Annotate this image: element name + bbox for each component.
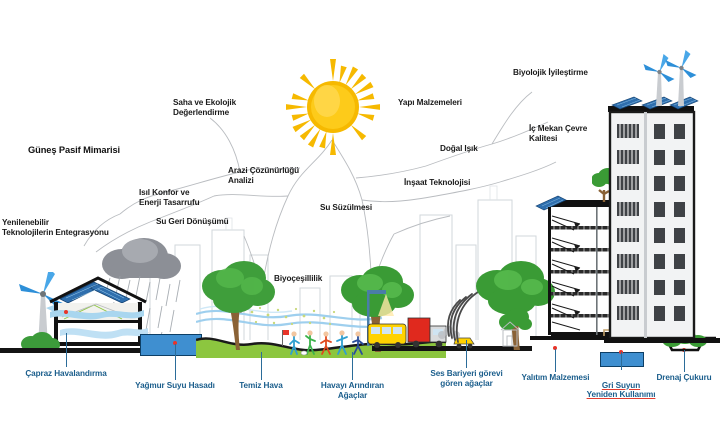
label-arazi-cozunurlugu-analizi: Arazi Çözünürlüğü Analizi xyxy=(228,166,336,185)
infographic-canvas: Güneş Pasif Mimarisi Yenilenebilir Tekno… xyxy=(0,0,720,427)
sun-icon xyxy=(286,58,380,156)
label-capraz-havalandirma: Çapraz Havalandırma xyxy=(1,369,131,379)
small-house-sketch xyxy=(498,316,532,350)
label-temiz-hava: Temiz Hava xyxy=(216,381,306,391)
leader-havayi-arindiran-agaclar xyxy=(352,352,353,380)
label-biyolojik-iyilestirme: Biyolojik İyileştirme xyxy=(513,68,631,78)
rooftop-wind-turbines xyxy=(640,50,710,110)
leader-gri-suyun-yeniden-kullanimi xyxy=(621,352,622,370)
label-ic-mekan-cevre-kalitesi: İç Mekan Çevre Kalitesi xyxy=(529,124,631,143)
marker-crossvent xyxy=(64,310,68,314)
leader-drenaj-cukuru xyxy=(684,350,685,372)
greywater-tank xyxy=(600,352,644,367)
label-isil-konfor-enerji-tasarrufu: Isıl Konfor ve Enerji Tasarrufu xyxy=(139,188,243,207)
label-yapi-malzemeleri: Yapı Malzemeleri xyxy=(398,98,502,108)
leader-yalitim-malzemesi xyxy=(555,349,556,372)
rainwater-basin xyxy=(140,334,202,356)
ground-line-left xyxy=(0,348,140,353)
label-su-suzulmesi: Su Süzülmesi xyxy=(320,203,412,213)
label-gri-suyun-line1: Gri Suyun Yeniden Kullanımı xyxy=(587,381,656,400)
leader-yagmur-suyu-hasadi xyxy=(175,344,176,380)
label-gunes-pasif-mimarisi: Güneş Pasif Mimarisi xyxy=(28,145,152,156)
label-insaat-teknolojisi: İnşaat Teknolojisi xyxy=(404,178,506,188)
label-yenilenebilir-teknolojiler: Yenilenebilir Teknolojilerin Entegrasyon… xyxy=(2,218,136,237)
label-drenaj-cukuru: Drenaj Çukuru xyxy=(639,373,720,383)
leader-ses-bariyeri-agaclar xyxy=(466,340,467,368)
leader-capraz-havalandirma xyxy=(66,333,67,367)
label-saha-ve-ekolojik-degerlendirme: Saha ve Ekolojik Değerlendirme xyxy=(173,98,285,117)
label-dogal-isik: Doğal Işık xyxy=(440,144,512,154)
label-havayi-arindiran-agaclar: Havayı Arındıran Ağaçlar xyxy=(300,381,405,400)
leader-temiz-hava xyxy=(261,352,262,380)
label-biyocesitlilik: Biyoçeşillilik xyxy=(274,274,358,284)
label-su-geri-donusumu: Su Geri Dönüşümü xyxy=(156,217,268,227)
air-particles xyxy=(248,302,344,328)
